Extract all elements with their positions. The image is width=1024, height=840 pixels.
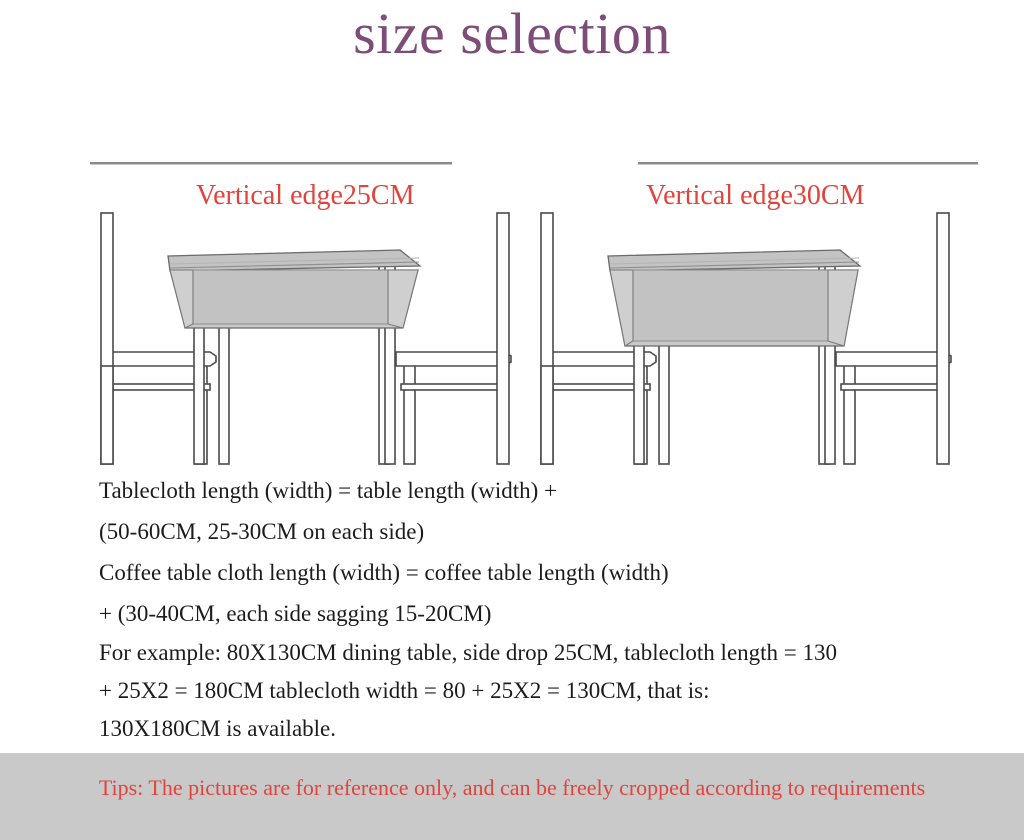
size-selection-infographic: size selection Vertical edge25CM — [0, 0, 1024, 840]
furniture-diagram-30cm-icon — [528, 198, 978, 468]
instruction-line: Tablecloth length (width) = table length… — [99, 470, 989, 511]
instruction-line: + 25X2 = 180CM tablecloth width = 80 + 2… — [99, 672, 989, 710]
page-title: size selection — [0, 4, 1024, 65]
divider-line-left — [90, 162, 452, 164]
divider-line-right — [638, 162, 978, 164]
measurement-instructions: Tablecloth length (width) = table length… — [99, 470, 989, 748]
footer-tip-text: Tips: The pictures are for reference onl… — [0, 775, 1024, 801]
instruction-line: + (30-40CM, each side sagging 15-20CM) — [99, 593, 989, 634]
table-chairs-illustration-right — [528, 198, 978, 468]
diagram-panel-right: Vertical edge30CM — [528, 150, 978, 470]
instruction-line: 130X180CM is available. — [99, 710, 989, 748]
diagram-panel-left: Vertical edge25CM — [88, 150, 538, 470]
furniture-diagram-25cm-icon — [88, 198, 538, 468]
instruction-line: (50-60CM, 25-30CM on each side) — [99, 511, 989, 552]
instruction-line: For example: 80X130CM dining table, side… — [99, 634, 989, 672]
instruction-line: Coffee table cloth length (width) = coff… — [99, 552, 989, 593]
footer-band: Tips: The pictures are for reference onl… — [0, 753, 1024, 840]
table-chairs-illustration-left — [88, 198, 538, 468]
